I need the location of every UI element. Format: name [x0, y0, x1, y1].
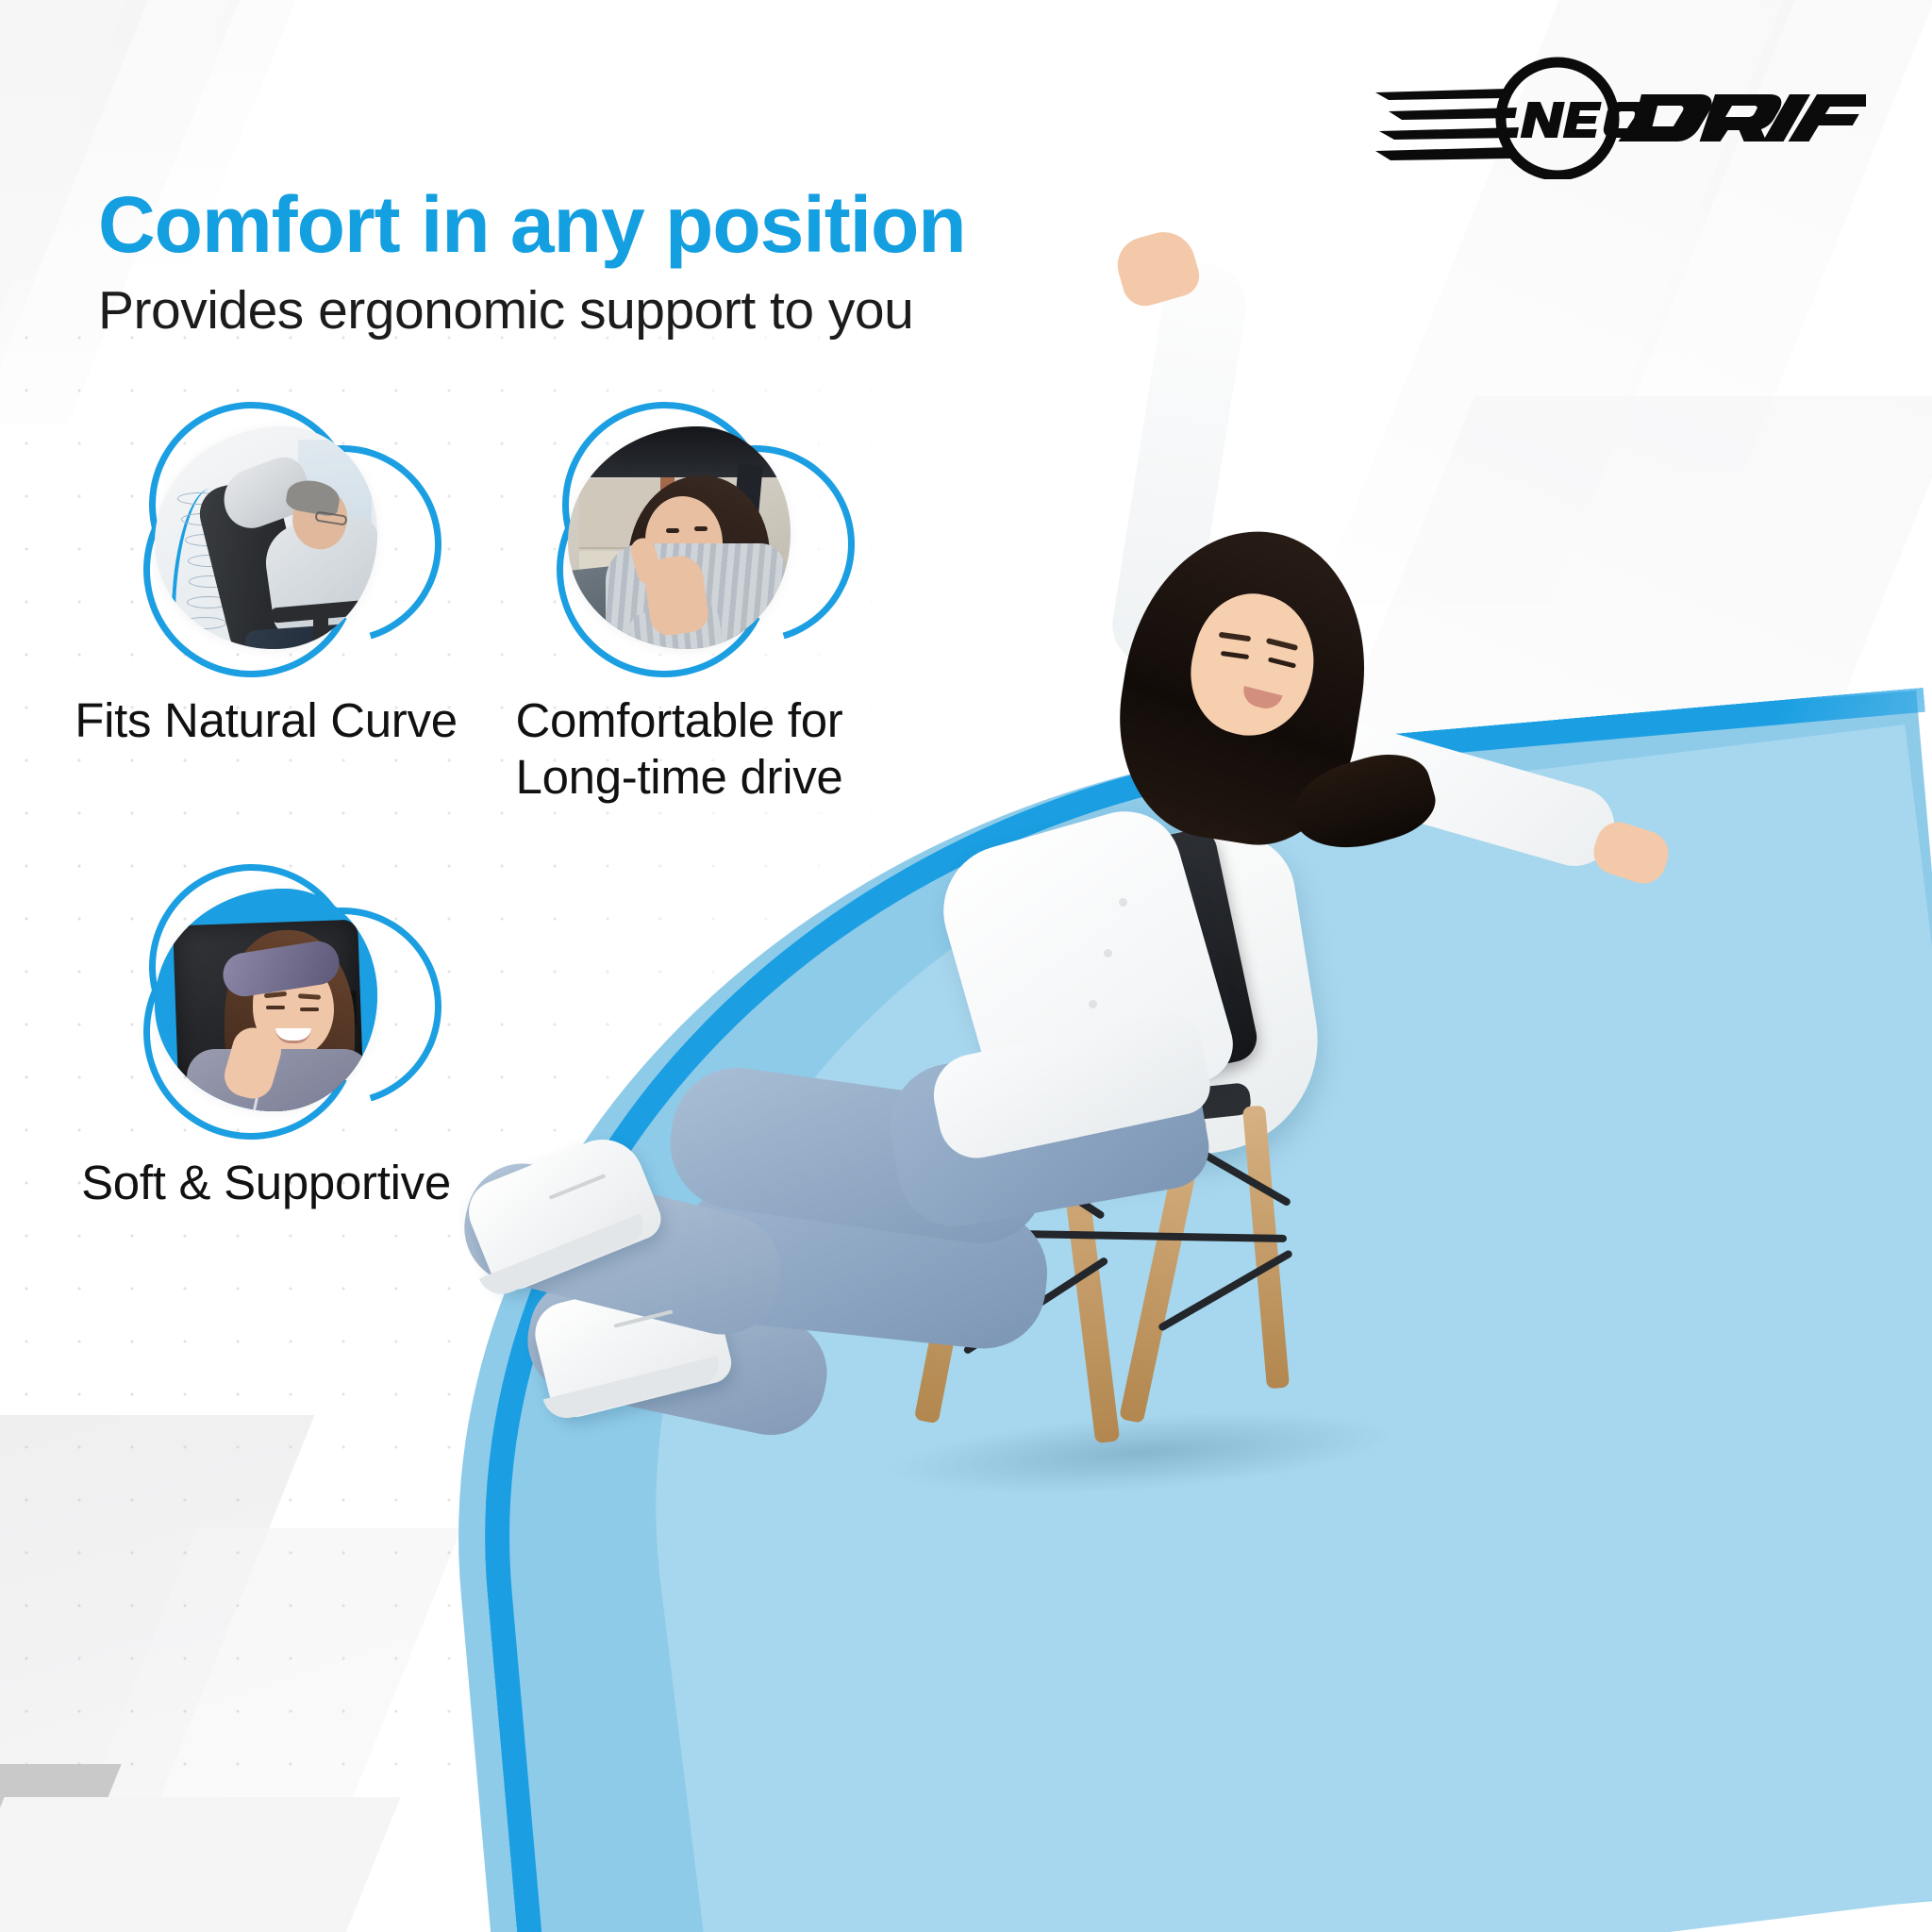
- shirt-button: [1089, 1000, 1097, 1008]
- shirt-button: [1119, 898, 1127, 907]
- diagonal-band-bottom-left-dark: [0, 1764, 122, 1932]
- neo-drift-logo: [1375, 57, 1866, 179]
- page-title: Comfort in any position: [98, 185, 1041, 266]
- diagonal-band-bottom-left-light: [0, 1797, 401, 1932]
- shirt-button: [1104, 949, 1112, 958]
- page-subtitle: Provides ergonomic support to you: [98, 283, 1041, 340]
- woman-sleeping-on-pillow-photo: [155, 889, 377, 1111]
- poster-canvas: Comfort in any position Provides ergonom…: [0, 0, 1932, 1932]
- man-reclining-office-chair-photo: [155, 426, 377, 649]
- hero-lifestyle-photo: [358, 585, 1932, 1932]
- diagonal-band-bottom-left-1: [0, 1415, 315, 1932]
- headline-block: Comfort in any position Provides ergonom…: [98, 185, 1041, 340]
